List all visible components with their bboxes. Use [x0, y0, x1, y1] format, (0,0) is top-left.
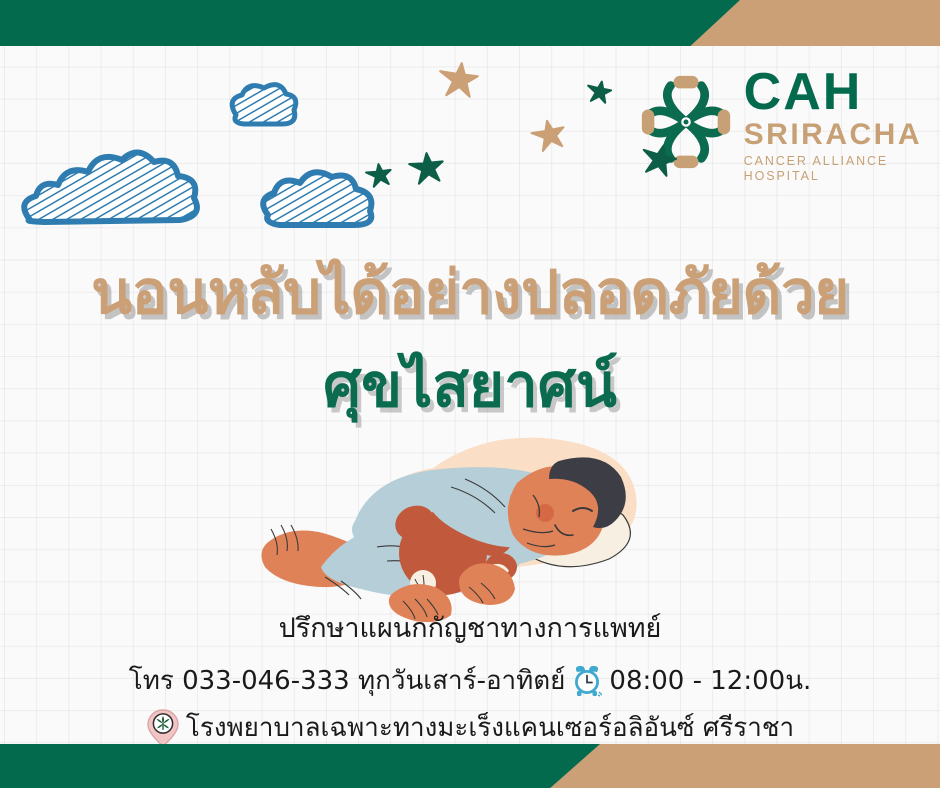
logo-tagline-line2: HOSPITAL [744, 170, 922, 183]
cah-logo-text: CAH SRIRACHA CANCER ALLIANCE HOSPITAL [744, 62, 922, 182]
hatched-cloud-icon [24, 152, 197, 222]
logo-subtitle: SRIRACHA [744, 120, 922, 150]
bottom-bar-green-section [0, 744, 600, 788]
footer-hospital-line: โรงพยาบาลเฉพาะทางมะเร็งแคนเซอร์อลิอันซ์ … [0, 707, 940, 748]
footer-hospital-text: โรงพยาบาลเฉพาะทางมะเร็งแคนเซอร์อลิอันซ์ … [186, 707, 794, 748]
top-bar-green-section [0, 0, 740, 46]
star-icon [530, 118, 568, 153]
logo-title: CAH [744, 66, 922, 118]
stars-decoration [350, 60, 710, 225]
star-icon [365, 163, 392, 188]
footer-block: ปรึกษาแผนกกัญชาทางการแพทย์ โทร 033-046-3… [0, 606, 940, 748]
headline-block: นอนหลับได้อย่างปลอดภัยด้วย ศุขไสยาศน์ [0, 262, 940, 418]
footer-phone-line: โทร 033-046-333 ทุกวันเสาร์-อาทิตย์ 08:0… [0, 660, 940, 701]
logo-tagline-line1: CANCER ALLIANCE [744, 155, 922, 168]
bottom-banner-bar [0, 744, 940, 788]
top-banner-bar [0, 0, 940, 46]
footer-hours-text: 08:00 - 12:00น. [609, 660, 811, 701]
footer-department-line: ปรึกษาแผนกกัญชาทางการแพทย์ [0, 606, 940, 649]
alarm-clock-icon [572, 665, 602, 697]
footer-phone-text: โทร 033-046-333 ทุกวันเสาร์-อาทิตย์ [129, 660, 566, 701]
sleeping-person-with-teddy-bear-illustration [255, 425, 675, 625]
poster-canvas: CAH SRIRACHA CANCER ALLIANCE HOSPITAL [0, 0, 940, 788]
headline-line-2: ศุขไสยาศน์ [0, 355, 940, 418]
star-icon [639, 141, 679, 178]
star-icon [438, 61, 479, 98]
hatched-cloud-icon [232, 85, 296, 124]
headline-line-1: นอนหลับได้อย่างปลอดภัยด้วย [0, 262, 940, 325]
map-pin-cannabis-leaf-icon [146, 708, 180, 748]
star-icon [408, 151, 445, 184]
star-icon [586, 79, 613, 104]
